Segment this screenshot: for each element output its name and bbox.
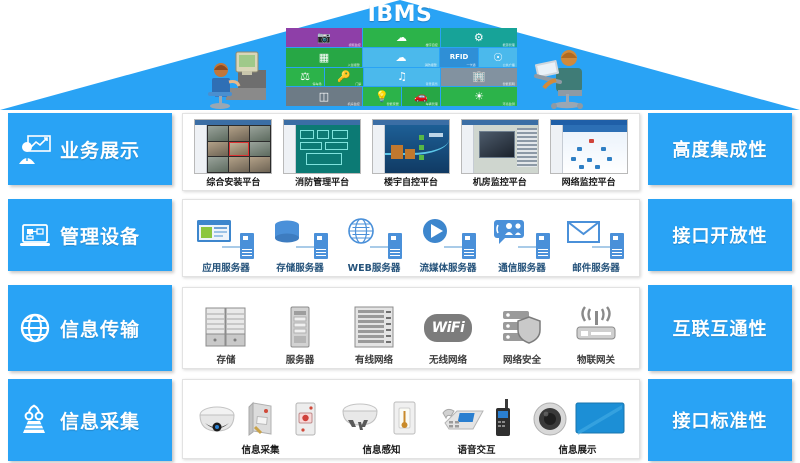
collection-group-label: 信息展示 bbox=[558, 442, 596, 456]
tile-label: 消防报警 bbox=[425, 62, 437, 67]
panel-business-display: 综合安装平台 消防管理平台 bbox=[182, 113, 640, 191]
environment-icon: ☀ bbox=[474, 91, 484, 102]
communication-server-icon bbox=[492, 217, 552, 259]
sidebar-item-information-collection[interactable]: 信息采集 bbox=[8, 379, 172, 461]
building-icon: 🏢 bbox=[472, 71, 486, 82]
platform-cell[interactable]: 综合安装平台 bbox=[194, 118, 272, 188]
tile-label: 视频监控 bbox=[348, 42, 360, 47]
page-title: IBMS bbox=[0, 2, 800, 27]
server-cell[interactable]: 存储服务器 bbox=[270, 204, 330, 274]
tile-one-card[interactable]: RFID 一卡通 bbox=[440, 48, 478, 67]
play-server-icon bbox=[418, 217, 478, 259]
cloud-icon: ☁ bbox=[396, 32, 407, 43]
platform-label: 机房监控平台 bbox=[473, 175, 527, 188]
server-tower-icon bbox=[271, 305, 329, 351]
sidebar-item-business-display[interactable]: 业务展示 bbox=[8, 113, 172, 185]
tile-label: 环境监测 bbox=[503, 101, 515, 106]
server-cell[interactable]: 应用服务器 bbox=[196, 204, 256, 274]
tile-intrusion-alarm[interactable]: ▦ 入侵报警 bbox=[286, 48, 362, 67]
sidebar-item-label: 管理设备 bbox=[60, 222, 140, 249]
sidebar-item-label: 业务展示 bbox=[60, 136, 140, 163]
platform-cell[interactable]: 楼宇自控平台 bbox=[372, 118, 450, 188]
rfid-icon: RFID bbox=[450, 54, 469, 61]
tile-background-music[interactable]: ♫ 背景音乐 bbox=[364, 68, 440, 87]
platform-label: 楼宇自控平台 bbox=[384, 175, 438, 188]
tile-label: 机房监控 bbox=[348, 101, 360, 106]
collection-group-label: 信息感知 bbox=[362, 442, 400, 456]
server-label: 邮件服务器 bbox=[572, 260, 620, 274]
tile-vehicle-management[interactable]: 🚗 车辆管理 bbox=[402, 87, 440, 106]
tile-fire-alarm[interactable]: ☁ 消防报警 bbox=[363, 48, 439, 67]
app-window-server-icon bbox=[196, 217, 256, 259]
sidebar-item-label: 信息采集 bbox=[60, 407, 140, 434]
tile-row-4: ◫ 机房监控 💡 智能家居 🚗 车辆管理 ☀ 环境监测 bbox=[286, 87, 517, 106]
tile-label: 楼宇自控 bbox=[426, 42, 438, 47]
server-cell[interactable]: 通信服务器 bbox=[492, 204, 552, 274]
network-label: 网络安全 bbox=[503, 352, 541, 366]
feature-item-interface-standard[interactable]: 接口标准性 bbox=[648, 379, 792, 461]
sensor-antenna-icon bbox=[18, 403, 52, 437]
platform-label: 消防管理平台 bbox=[295, 175, 349, 188]
tile-environment-monitor[interactable]: ☀ 环境监测 bbox=[441, 87, 517, 106]
rack-icon: ◫ bbox=[319, 91, 329, 102]
speaker-icon bbox=[530, 397, 570, 441]
walkie-talkie-icon bbox=[491, 397, 515, 441]
network-label: 存储 bbox=[216, 352, 235, 366]
platform-label: 网络监控平台 bbox=[562, 175, 616, 188]
tile-label: 车辆管理 bbox=[426, 101, 438, 106]
feature-item-label: 接口开放性 bbox=[673, 222, 768, 248]
tile-label: 门禁 bbox=[355, 82, 361, 87]
tile-row-2: ▦ 入侵报警 ☁ 消防报警 RFID 一卡通 ☉ 公共广播 bbox=[286, 48, 517, 67]
feature-item-high-integration[interactable]: 高度集成性 bbox=[648, 113, 792, 185]
key-icon: 🔑 bbox=[337, 71, 351, 82]
globe-server-icon bbox=[344, 217, 404, 259]
storage-array-icon bbox=[197, 305, 255, 351]
network-cell[interactable]: 存储 bbox=[197, 292, 255, 366]
tile-energy-management[interactable]: ⚙ 能源管理 bbox=[441, 28, 517, 47]
network-label: 服务器 bbox=[286, 352, 315, 366]
collection-group[interactable]: 信息采集 bbox=[197, 397, 325, 456]
tile-building-automation[interactable]: ☁ 楼宇自控 bbox=[363, 28, 439, 47]
collection-group-label: 语音交互 bbox=[457, 442, 495, 456]
tile-row-3: ⚖ 停车场 🔑 门禁 ♫ 背景音乐 🏢 智能照明 bbox=[286, 68, 517, 87]
collection-group[interactable]: 信息展示 bbox=[530, 397, 626, 456]
collection-group[interactable]: 语音交互 bbox=[439, 397, 515, 456]
parking-icon: ⚖ bbox=[300, 71, 310, 82]
collection-group[interactable]: 信息感知 bbox=[340, 397, 424, 456]
feature-item-label: 高度集成性 bbox=[673, 136, 768, 162]
sidebar-item-information-transmission[interactable]: 信息传输 bbox=[8, 285, 172, 371]
music-note-icon: ♫ bbox=[397, 71, 407, 82]
server-label: 通信服务器 bbox=[498, 260, 546, 274]
server-label: 存储服务器 bbox=[276, 260, 324, 274]
network-cell[interactable]: 服务器 bbox=[271, 292, 329, 366]
switch-rack-icon bbox=[345, 305, 403, 351]
fire-plan-screenshot bbox=[283, 119, 361, 174]
feature-item-open-interface[interactable]: 接口开放性 bbox=[648, 199, 792, 271]
tile-label: 入侵报警 bbox=[348, 62, 360, 67]
tile-label: 能源管理 bbox=[503, 42, 515, 47]
emergency-button-icon bbox=[285, 397, 325, 441]
tile-smart-lighting[interactable]: 🏢 智能照明 bbox=[441, 68, 517, 87]
roof-section: IBMS bbox=[0, 0, 800, 110]
network-topology-screenshot bbox=[550, 119, 628, 174]
panel-information-transmission: 存储 服务器 bbox=[182, 287, 640, 369]
person-with-laptop-figure bbox=[528, 40, 600, 110]
laptop-network-icon bbox=[18, 218, 52, 252]
server-cell[interactable]: WEB服务器 bbox=[344, 204, 404, 274]
wifi-icon: WiFi bbox=[419, 305, 477, 351]
tile-video-surveillance[interactable]: 📷 视频监控 bbox=[286, 28, 362, 47]
tile-parking[interactable]: ⚖ 停车场 bbox=[286, 68, 324, 87]
server-cell[interactable]: 邮件服务器 bbox=[566, 204, 626, 274]
tile-label: 背景音乐 bbox=[426, 82, 438, 87]
sidebar-item-label: 信息传输 bbox=[60, 315, 140, 342]
cctv-matrix-screenshot bbox=[194, 119, 272, 174]
operator-at-desktop-figure bbox=[196, 44, 270, 110]
tile-access-control[interactable]: 🔑 门禁 bbox=[325, 68, 363, 87]
dome-camera-icon bbox=[197, 397, 237, 441]
tile-smart-home[interactable]: 💡 智能家居 bbox=[363, 87, 401, 106]
platform-cell[interactable]: 机房监控平台 bbox=[461, 118, 539, 188]
network-label: 无线网络 bbox=[429, 352, 467, 366]
server-label: WEB服务器 bbox=[348, 260, 401, 274]
tile-row-1: 📷 视频监控 ☁ 楼宇自控 ⚙ 能源管理 bbox=[286, 28, 517, 47]
shield-server-icon bbox=[493, 305, 551, 351]
ibms-architecture-diagram: IBMS bbox=[0, 0, 800, 463]
tile-label: 公共广播 bbox=[503, 62, 515, 67]
tile-label: 停车场 bbox=[313, 82, 322, 87]
tile-public-broadcast[interactable]: ☉ 公共广播 bbox=[479, 48, 517, 67]
panel-information-collection: 信息采集 bbox=[182, 379, 640, 459]
network-cell[interactable]: 物联网关 bbox=[567, 292, 625, 366]
network-cell[interactable]: 网络安全 bbox=[493, 292, 551, 366]
broadcast-icon: ☉ bbox=[493, 52, 503, 63]
grid-icon: ▦ bbox=[319, 52, 329, 63]
tile-label: 智能照明 bbox=[503, 82, 515, 87]
platform-cell[interactable]: 消防管理平台 bbox=[283, 118, 361, 188]
server-label: 流媒体服务器 bbox=[419, 260, 476, 274]
server-room-screenshot bbox=[461, 119, 539, 174]
tile-label: 智能家居 bbox=[387, 101, 399, 106]
database-server-icon bbox=[270, 217, 330, 259]
sidebar-item-management-devices[interactable]: 管理设备 bbox=[8, 199, 172, 271]
server-label: 应用服务器 bbox=[202, 260, 250, 274]
temperature-sensor-icon bbox=[384, 397, 424, 441]
fire-cloud-icon: ☁ bbox=[396, 52, 407, 63]
network-cell[interactable]: WiFi 无线网络 bbox=[419, 292, 477, 366]
gateway-antenna-icon bbox=[567, 305, 625, 351]
network-cell[interactable]: 有线网络 bbox=[345, 292, 403, 366]
platform-cell[interactable]: 网络监控平台 bbox=[550, 118, 628, 188]
cctv-camera-icon: 📷 bbox=[317, 32, 331, 43]
display-screen-icon bbox=[574, 397, 626, 441]
wifi-badge: WiFi bbox=[424, 314, 472, 342]
network-label: 有线网络 bbox=[355, 352, 393, 366]
tile-machine-room[interactable]: ◫ 机房监控 bbox=[286, 87, 362, 106]
feature-item-interconnectivity[interactable]: 互联互通性 bbox=[648, 285, 792, 371]
platform-label: 综合安装平台 bbox=[206, 175, 260, 188]
roof-tile-grid: 📷 视频监控 ☁ 楼宇自控 ⚙ 能源管理 ▦ 入侵报警 ☁ bbox=[286, 28, 517, 106]
feature-item-label: 接口标准性 bbox=[673, 407, 768, 433]
server-cell[interactable]: 流媒体服务器 bbox=[418, 204, 478, 274]
network-label: 物联网关 bbox=[577, 352, 615, 366]
globe-icon bbox=[18, 311, 52, 345]
tile-label: 一卡通 bbox=[467, 62, 476, 67]
smoke-detector-icon bbox=[340, 397, 380, 441]
presentation-person-icon bbox=[18, 132, 52, 166]
mail-server-icon bbox=[566, 217, 626, 259]
ip-phone-icon bbox=[439, 397, 487, 441]
bas-dashboard-screenshot bbox=[372, 119, 450, 174]
card-reader-icon bbox=[241, 397, 281, 441]
gear-icon: ⚙ bbox=[474, 32, 484, 43]
panel-management-devices: 应用服务器 存储服务器 bbox=[182, 199, 640, 277]
feature-item-label: 互联互通性 bbox=[673, 315, 768, 341]
collection-group-label: 信息采集 bbox=[241, 442, 279, 456]
